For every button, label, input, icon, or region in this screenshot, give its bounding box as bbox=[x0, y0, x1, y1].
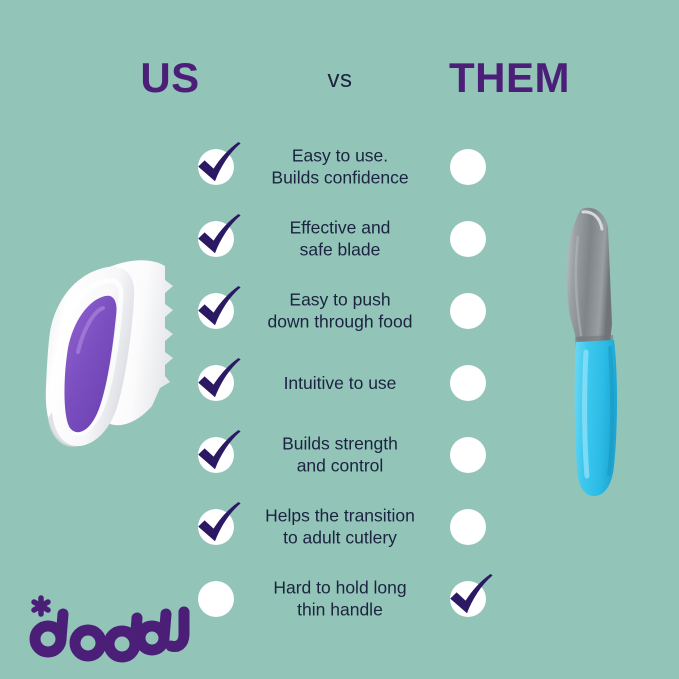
comparison-row-label: Easy to use.Builds confidence bbox=[236, 145, 444, 190]
column-header-them: THEM bbox=[340, 54, 679, 102]
us-check-marked bbox=[198, 293, 234, 329]
them-check-empty bbox=[450, 509, 486, 545]
circle-indicator bbox=[450, 221, 486, 257]
comparison-row: Effective andsafe blade bbox=[0, 203, 679, 275]
check-icon bbox=[448, 572, 494, 618]
brand-logo-doddl bbox=[18, 592, 198, 664]
us-check-marked bbox=[198, 509, 234, 545]
comparison-row: Builds strengthand control bbox=[0, 419, 679, 491]
comparison-infographic: US vs THEM bbox=[0, 0, 679, 679]
comparison-rows: Easy to use.Builds confidenceEffective a… bbox=[0, 131, 679, 635]
circle-indicator bbox=[450, 365, 486, 401]
them-check-empty bbox=[450, 365, 486, 401]
circle-indicator bbox=[450, 293, 486, 329]
us-check-marked bbox=[198, 149, 234, 185]
them-check-marked bbox=[450, 581, 486, 617]
circle-indicator bbox=[450, 437, 486, 473]
comparison-row: Easy to use.Builds confidence bbox=[0, 131, 679, 203]
them-check-empty bbox=[450, 221, 486, 257]
comparison-row-label: Easy to pushdown through food bbox=[236, 289, 444, 334]
comparison-row-label: Builds strengthand control bbox=[236, 433, 444, 478]
them-check-empty bbox=[450, 293, 486, 329]
comparison-row: Easy to pushdown through food bbox=[0, 275, 679, 347]
comparison-row-label: Helps the transitionto adult cutlery bbox=[236, 505, 444, 550]
comparison-row-label: Intuitive to use bbox=[236, 372, 444, 394]
circle-indicator bbox=[198, 581, 234, 617]
circle-indicator bbox=[450, 149, 486, 185]
comparison-row-label: Effective andsafe blade bbox=[236, 217, 444, 262]
us-check-marked bbox=[198, 221, 234, 257]
us-check-marked bbox=[198, 365, 234, 401]
them-check-empty bbox=[450, 437, 486, 473]
circle-indicator bbox=[450, 509, 486, 545]
comparison-row: Intuitive to use bbox=[0, 347, 679, 419]
comparison-row: Helps the transitionto adult cutlery bbox=[0, 491, 679, 563]
us-check-empty bbox=[198, 581, 234, 617]
comparison-row-label: Hard to hold longthin handle bbox=[236, 577, 444, 622]
them-check-empty bbox=[450, 149, 486, 185]
us-check-marked bbox=[198, 437, 234, 473]
